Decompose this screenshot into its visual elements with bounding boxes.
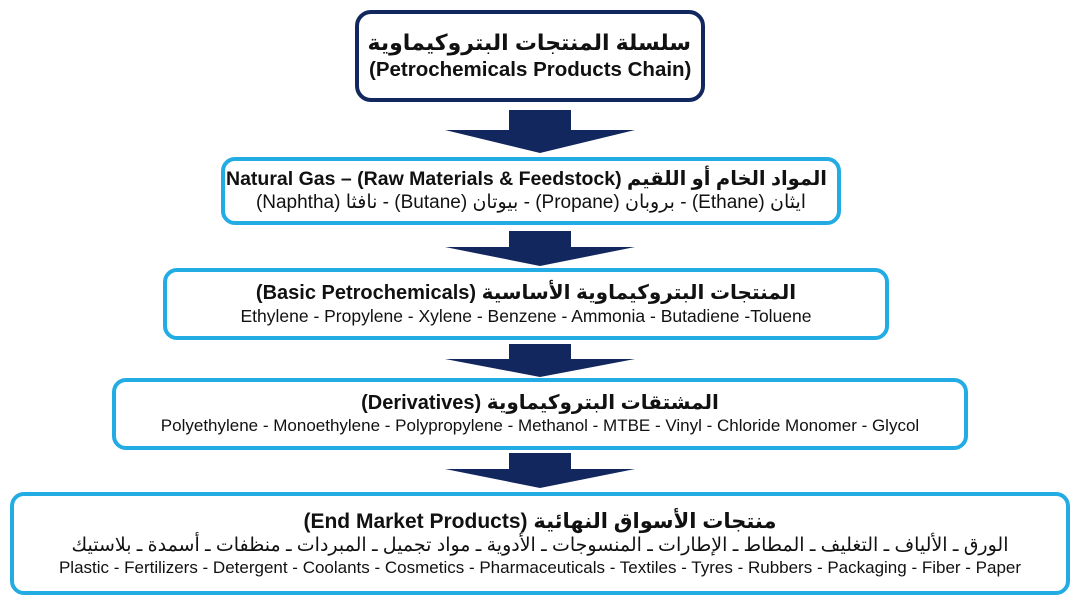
arrow-down-icon-4 [442, 453, 638, 489]
title-english: (Petrochemicals Products Chain) [369, 57, 691, 82]
basic-petrochemicals-heading: المنتجات البتروكيماوية الأساسية (Basic P… [177, 281, 875, 305]
arrow-down-icon-3 [442, 344, 638, 378]
node-basic-petrochemicals: المنتجات البتروكيماوية الأساسية (Basic P… [163, 268, 889, 340]
end-market-products-items-arabic: الورق ـ الألياف ـ التغليف ـ المطاط ـ الإ… [24, 534, 1056, 557]
raw-materials-items: (Naphtha) نافثا - (Butane) بيوتان - (Pro… [235, 191, 827, 214]
derivatives-items: Polyethylene - Monoethylene - Polypropyl… [126, 416, 954, 437]
end-market-products-items-english: Plastic - Fertilizers - Detergent - Cool… [24, 558, 1056, 579]
node-raw-materials-feedstock: المواد الخام أو اللقيم (Raw Materials & … [221, 157, 841, 225]
title-arabic: سلسلة المنتجات البتروكيماوية [369, 30, 691, 57]
basic-petrochemicals-items: Ethylene - Propylene - Xylene - Benzene … [177, 306, 875, 327]
node-petrochemicals-products-chain: سلسلة المنتجات البتروكيماوية (Petrochemi… [355, 10, 705, 102]
petrochemicals-flowchart: سلسلة المنتجات البتروكيماوية (Petrochemi… [0, 0, 1080, 605]
arrow-down-icon-1 [442, 110, 638, 154]
derivatives-heading: المشتقات البتروكيماوية (Derivatives) [126, 391, 954, 415]
arrow-down-icon-2 [442, 231, 638, 267]
end-market-products-heading: منتجات الأسواق النهائية (End Market Prod… [24, 509, 1056, 535]
node-end-market-products: منتجات الأسواق النهائية (End Market Prod… [10, 492, 1070, 595]
raw-materials-heading: المواد الخام أو اللقيم (Raw Materials & … [235, 168, 827, 192]
node-derivatives: المشتقات البتروكيماوية (Derivatives) Pol… [112, 378, 968, 450]
